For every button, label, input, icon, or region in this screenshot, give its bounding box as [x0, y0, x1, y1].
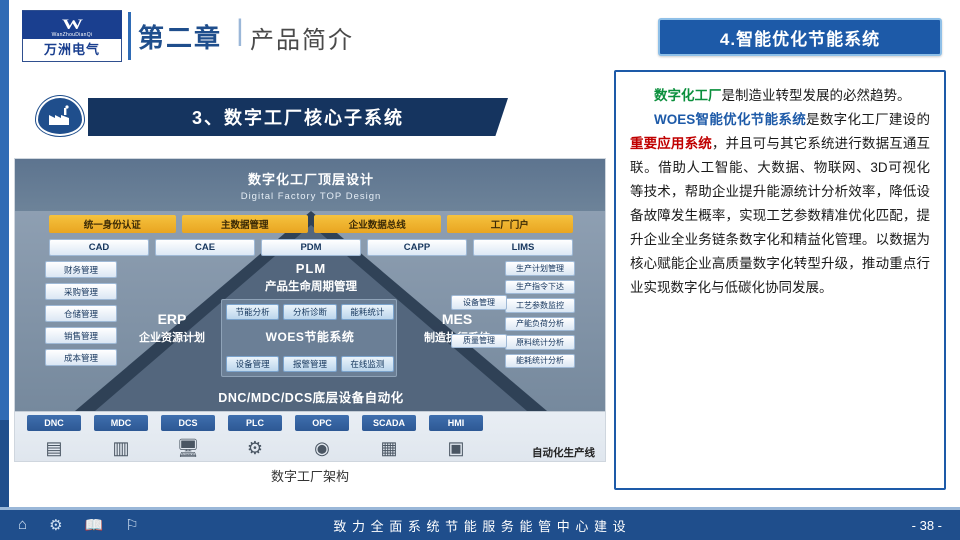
design-tool-item: CAD	[49, 239, 149, 256]
erp-module: 销售管理	[45, 327, 117, 344]
diagram-caption: 数字工厂架构	[14, 466, 606, 485]
platform-service-item: 工厂门户	[447, 215, 574, 233]
paragraph-2-part-2: ，并且可与其它系统进行数据互通互联。借助人工智能、大数据、物联网、3D可视化等技…	[630, 136, 930, 295]
robot-icon: ⚙	[228, 435, 282, 461]
platform-services-row: 统一身份认证 主数据管理 企业数据总线 工厂门户	[49, 215, 573, 233]
mes-side-module: 设备管理	[451, 295, 507, 310]
woes-top-row: 节能分析 分析诊断 能耗统计	[226, 304, 394, 320]
design-tool-item: CAPP	[367, 239, 467, 256]
erp-block: ERP 企业资源计划	[127, 311, 217, 345]
highlight-key-application: 重要应用系统	[630, 136, 712, 151]
mes-module: 产能负荷分析	[505, 317, 575, 332]
device-protocol-tabs: DNC MDC DCS PLC OPC SCADA HMI	[27, 415, 527, 431]
device-protocol-tab: DNC	[27, 415, 81, 431]
factory-icon-glyph	[47, 105, 73, 127]
section-badge: 4.智能优化节能系统	[658, 18, 942, 56]
diagram-top-title: 数字化工厂顶层设计	[248, 169, 374, 188]
hmi-icon: ▣	[429, 435, 483, 461]
subsection-title: 3、数字工厂核心子系统	[88, 98, 508, 136]
device-protocol-tab: HMI	[429, 415, 483, 431]
page-number: - 38 -	[912, 518, 942, 533]
mes-module: 能耗统计分析	[505, 354, 575, 369]
plm-block: PLM 产品生命周期管理	[205, 261, 417, 294]
production-line-label: 自动化生产线	[532, 445, 595, 460]
platform-service-item: 主数据管理	[182, 215, 309, 233]
subsection-title-label: 3、数字工厂核心子系统	[192, 104, 404, 130]
mes-side-module-list: 设备管理 质量管理	[451, 295, 507, 348]
computer-icon: 🖥	[161, 435, 215, 461]
mes-module: 生产计划管理	[505, 261, 575, 276]
section-badge-label: 4.智能优化节能系统	[720, 25, 880, 50]
company-logo: W WanZhouDianQi 万洲电气	[22, 10, 122, 62]
logo-pinyin: WanZhouDianQi	[52, 32, 93, 38]
left-edge-accent	[0, 0, 9, 420]
woes-block: 节能分析 分析诊断 能耗统计 WOES节能系统 设备管理 报警管理 在线监测	[221, 299, 397, 377]
plm-name: 产品生命周期管理	[205, 278, 417, 294]
paragraph-1-rest: 是制造业转型发展的必然趋势。	[722, 88, 911, 103]
paragraph-2-part-1: 是数字化工厂建设的	[806, 112, 930, 127]
cabinet-icon: ▥	[94, 435, 148, 461]
diagram-top-header: 数字化工厂顶层设计 Digital Factory TOP Design	[15, 159, 606, 211]
erp-name: 企业资源计划	[127, 329, 217, 345]
woes-module: 设备管理	[226, 356, 279, 372]
factory-icon	[36, 96, 84, 136]
woes-module: 在线监测	[341, 356, 394, 372]
woes-module: 报警管理	[283, 356, 336, 372]
logo-mark: W WanZhouDianQi	[22, 11, 122, 39]
device-protocol-tab: OPC	[295, 415, 349, 431]
design-tool-item: CAE	[155, 239, 255, 256]
platform-service-item: 企业数据总线	[314, 215, 441, 233]
plm-acronym: PLM	[205, 261, 417, 276]
device-protocol-tab: DCS	[161, 415, 215, 431]
device-protocol-tab: SCADA	[362, 415, 416, 431]
mes-module: 原料统计分析	[505, 335, 575, 350]
description-panel: 数字化工厂是制造业转型发展的必然趋势。 WOES智能优化节能系统是数字化工厂建设…	[614, 70, 946, 490]
mes-module-list: 生产计划管理 生产指令下达 工艺参数监控 产能负荷分析 原料统计分析 能耗统计分…	[505, 261, 575, 368]
erp-module-list: 财务管理 采购管理 仓储管理 销售管理 成本管理	[45, 261, 117, 366]
mes-module: 生产指令下达	[505, 280, 575, 295]
automation-layer-label: DNC/MDC/DCS底层设备自动化	[165, 387, 457, 406]
logo-letter: W	[62, 17, 83, 34]
design-tool-item: PDM	[261, 239, 361, 256]
design-tools-row: CAD CAE PDM CAPP LIMS	[49, 239, 573, 256]
erp-module: 成本管理	[45, 349, 117, 366]
slide-footer: ⌂ ⚙ 📖 ⚐ 致 力 全 面 系 统 节 能 服 务 能 管 中 心 建 设 …	[0, 510, 960, 540]
panel-icon: ▦	[362, 435, 416, 461]
chapter-number: 第二章	[138, 18, 222, 55]
erp-module: 采购管理	[45, 283, 117, 300]
chapter-divider	[128, 12, 131, 60]
factory-architecture-diagram: 数字化工厂顶层设计 Digital Factory TOP Design 统一身…	[14, 158, 606, 462]
woes-module: 节能分析	[226, 304, 279, 320]
erp-module: 财务管理	[45, 261, 117, 278]
erp-module: 仓储管理	[45, 305, 117, 322]
highlight-woes-system: WOES智能优化节能系统	[654, 112, 806, 127]
chapter-title: 产品简介	[250, 20, 354, 55]
woes-module: 能耗统计	[341, 304, 394, 320]
device-icon-row: ▤ ▥ 🖥 ⚙ ◉ ▦ ▣	[27, 435, 527, 461]
description-paragraph-1: 数字化工厂是制造业转型发展的必然趋势。	[630, 84, 930, 108]
mes-side-module: 质量管理	[451, 334, 507, 349]
highlight-digital-factory: 数字化工厂	[654, 88, 722, 103]
erp-acronym: ERP	[127, 311, 217, 327]
chapter-separator: |	[236, 14, 244, 48]
footer-slogan: 致 力 全 面 系 统 节 能 服 务 能 管 中 心 建 设	[0, 516, 960, 535]
mes-module: 工艺参数监控	[505, 298, 575, 313]
opc-icon: ◉	[295, 435, 349, 461]
woes-bottom-row: 设备管理 报警管理 在线监测	[226, 356, 394, 372]
device-protocol-tab: PLC	[228, 415, 282, 431]
description-paragraph-2: WOES智能优化节能系统是数字化工厂建设的重要应用系统，并且可与其它系统进行数据…	[630, 108, 930, 300]
woes-title: WOES节能系统	[222, 328, 398, 345]
woes-module: 分析诊断	[283, 304, 336, 320]
diagram-top-subtitle: Digital Factory TOP Design	[241, 191, 382, 202]
design-tool-item: LIMS	[473, 239, 573, 256]
platform-service-item: 统一身份认证	[49, 215, 176, 233]
device-protocol-tab: MDC	[94, 415, 148, 431]
logo-company-name: 万洲电气	[44, 39, 100, 61]
server-icon: ▤	[27, 435, 81, 461]
